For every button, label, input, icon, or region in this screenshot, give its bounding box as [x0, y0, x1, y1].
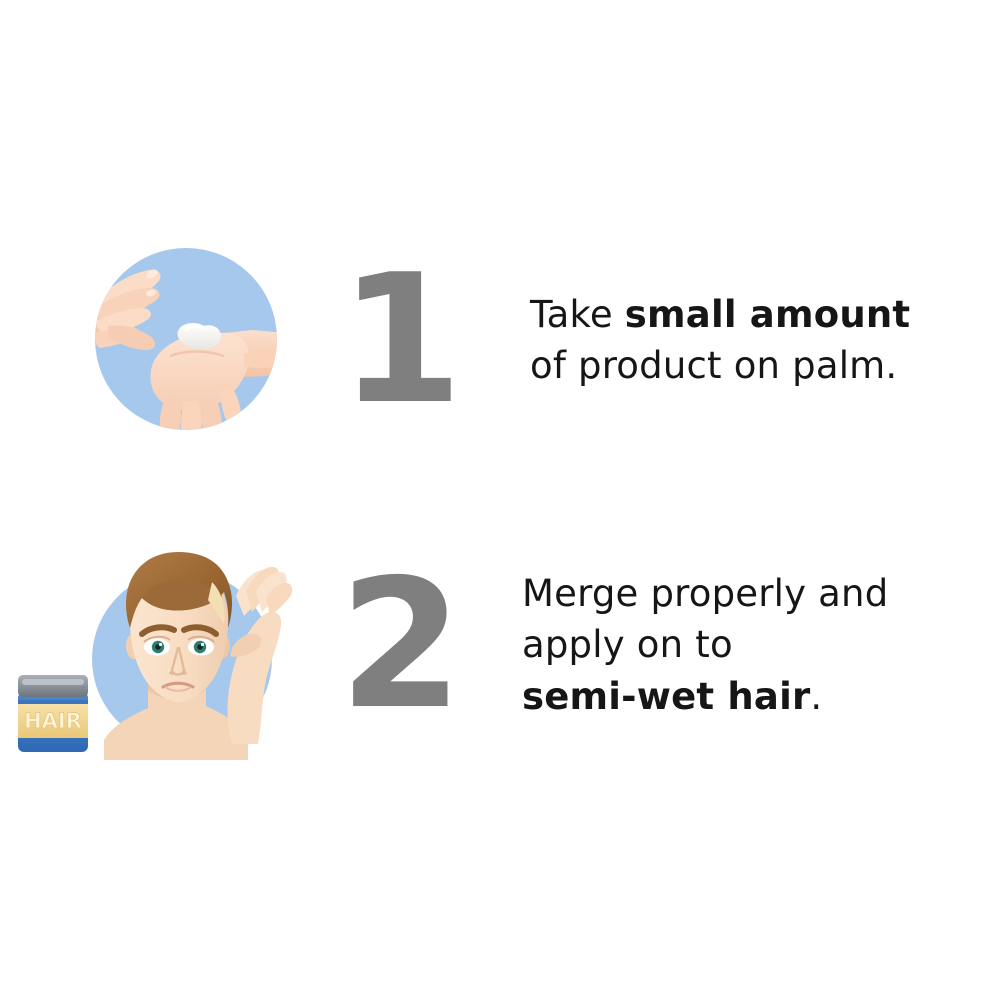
step-1-line-2: of product on palm. — [530, 340, 1000, 391]
instructions-page: 1 Take small amount of product on palm. — [0, 0, 1000, 1000]
step-1-illustration — [0, 238, 300, 442]
step-2-line-3: semi-wet hair. — [522, 671, 1000, 722]
step-1-line-1: Take small amount — [530, 289, 1000, 340]
step-row: HAIR 2 Merge properly and apply on to se… — [0, 530, 1000, 760]
jar-label-text: HAIR — [24, 709, 82, 733]
step-1-line-1-bold: small amount — [625, 293, 911, 336]
man-artwork: HAIR — [0, 530, 300, 760]
hands-artwork — [0, 238, 300, 442]
step-2-line-1: Merge properly and — [522, 568, 1000, 619]
step-number: 1 — [300, 251, 518, 429]
hair-product-jar: HAIR — [18, 675, 88, 752]
step-2-text: Merge properly and apply on to semi-wet … — [510, 568, 1000, 721]
step-1-line-1-plain: Take — [530, 293, 625, 336]
step-number: 2 — [300, 556, 510, 734]
step-row: 1 Take small amount of product on palm. — [0, 238, 1000, 442]
step-1-text: Take small amount of product on palm. — [518, 289, 1000, 391]
step-2-illustration: HAIR — [0, 530, 300, 760]
man-applying-hair-product-icon: HAIR — [0, 530, 300, 760]
hand-with-cream-icon — [0, 238, 300, 442]
step-2-line-2: apply on to — [522, 619, 1000, 670]
step-2-line-3-bold: semi-wet hair — [522, 675, 810, 718]
step-2-line-3-plain: . — [810, 675, 822, 718]
